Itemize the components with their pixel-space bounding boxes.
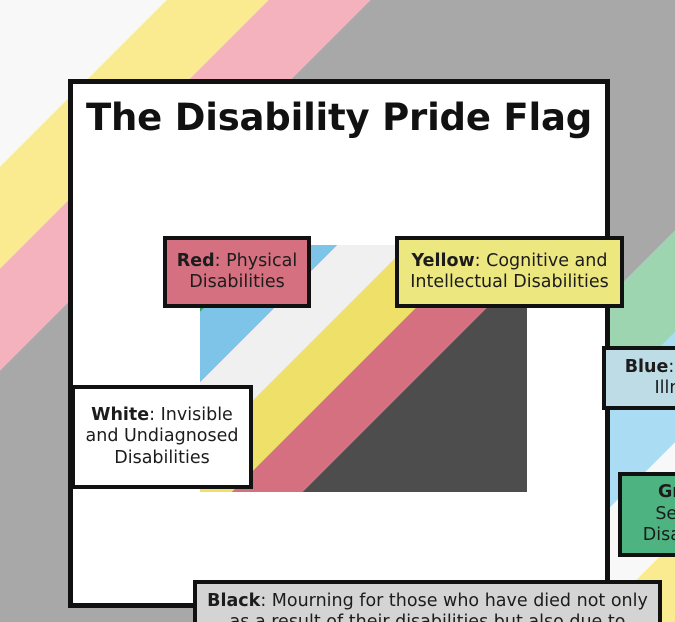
callout-white-label: White — [91, 405, 149, 425]
callout-blue: Blue: Mental Illness — [602, 346, 675, 410]
page-title: The Disability Pride Flag — [73, 96, 605, 139]
callout-yellow-label: Yellow — [412, 251, 475, 271]
callout-white: White: Invisible and Undiagnosed Disabil… — [71, 385, 253, 489]
callout-green-content: Green: Sensory Disabilities — [630, 482, 675, 546]
callout-red-label: Red — [177, 251, 215, 271]
callout-black-text: : Mourning for those who have died not o… — [230, 591, 648, 622]
callout-green-label: Green — [658, 482, 675, 502]
callout-white-content: White: Invisible and Undiagnosed Disabil… — [83, 405, 241, 469]
callout-black: Black: Mourning for those who have died … — [193, 580, 662, 622]
callout-red: Red: Physical Disabilities — [163, 236, 311, 308]
callout-red-content: Red: Physical Disabilities — [173, 251, 301, 294]
info-card: The Disability Pride Flag Red: Physical … — [68, 79, 610, 608]
callout-black-content: Black: Mourning for those who have died … — [207, 591, 648, 622]
callout-yellow-content: Yellow: Cognitive and Intellectual Disab… — [405, 251, 614, 294]
callout-yellow: Yellow: Cognitive and Intellectual Disab… — [395, 236, 624, 308]
callout-blue-content: Blue: Mental Illness — [614, 357, 675, 400]
slide-canvas: The Disability Pride Flag Red: Physical … — [0, 0, 675, 622]
callout-green: Green: Sensory Disabilities — [618, 472, 675, 557]
callout-blue-label: Blue — [625, 357, 669, 377]
callout-black-label: Black — [207, 591, 260, 611]
